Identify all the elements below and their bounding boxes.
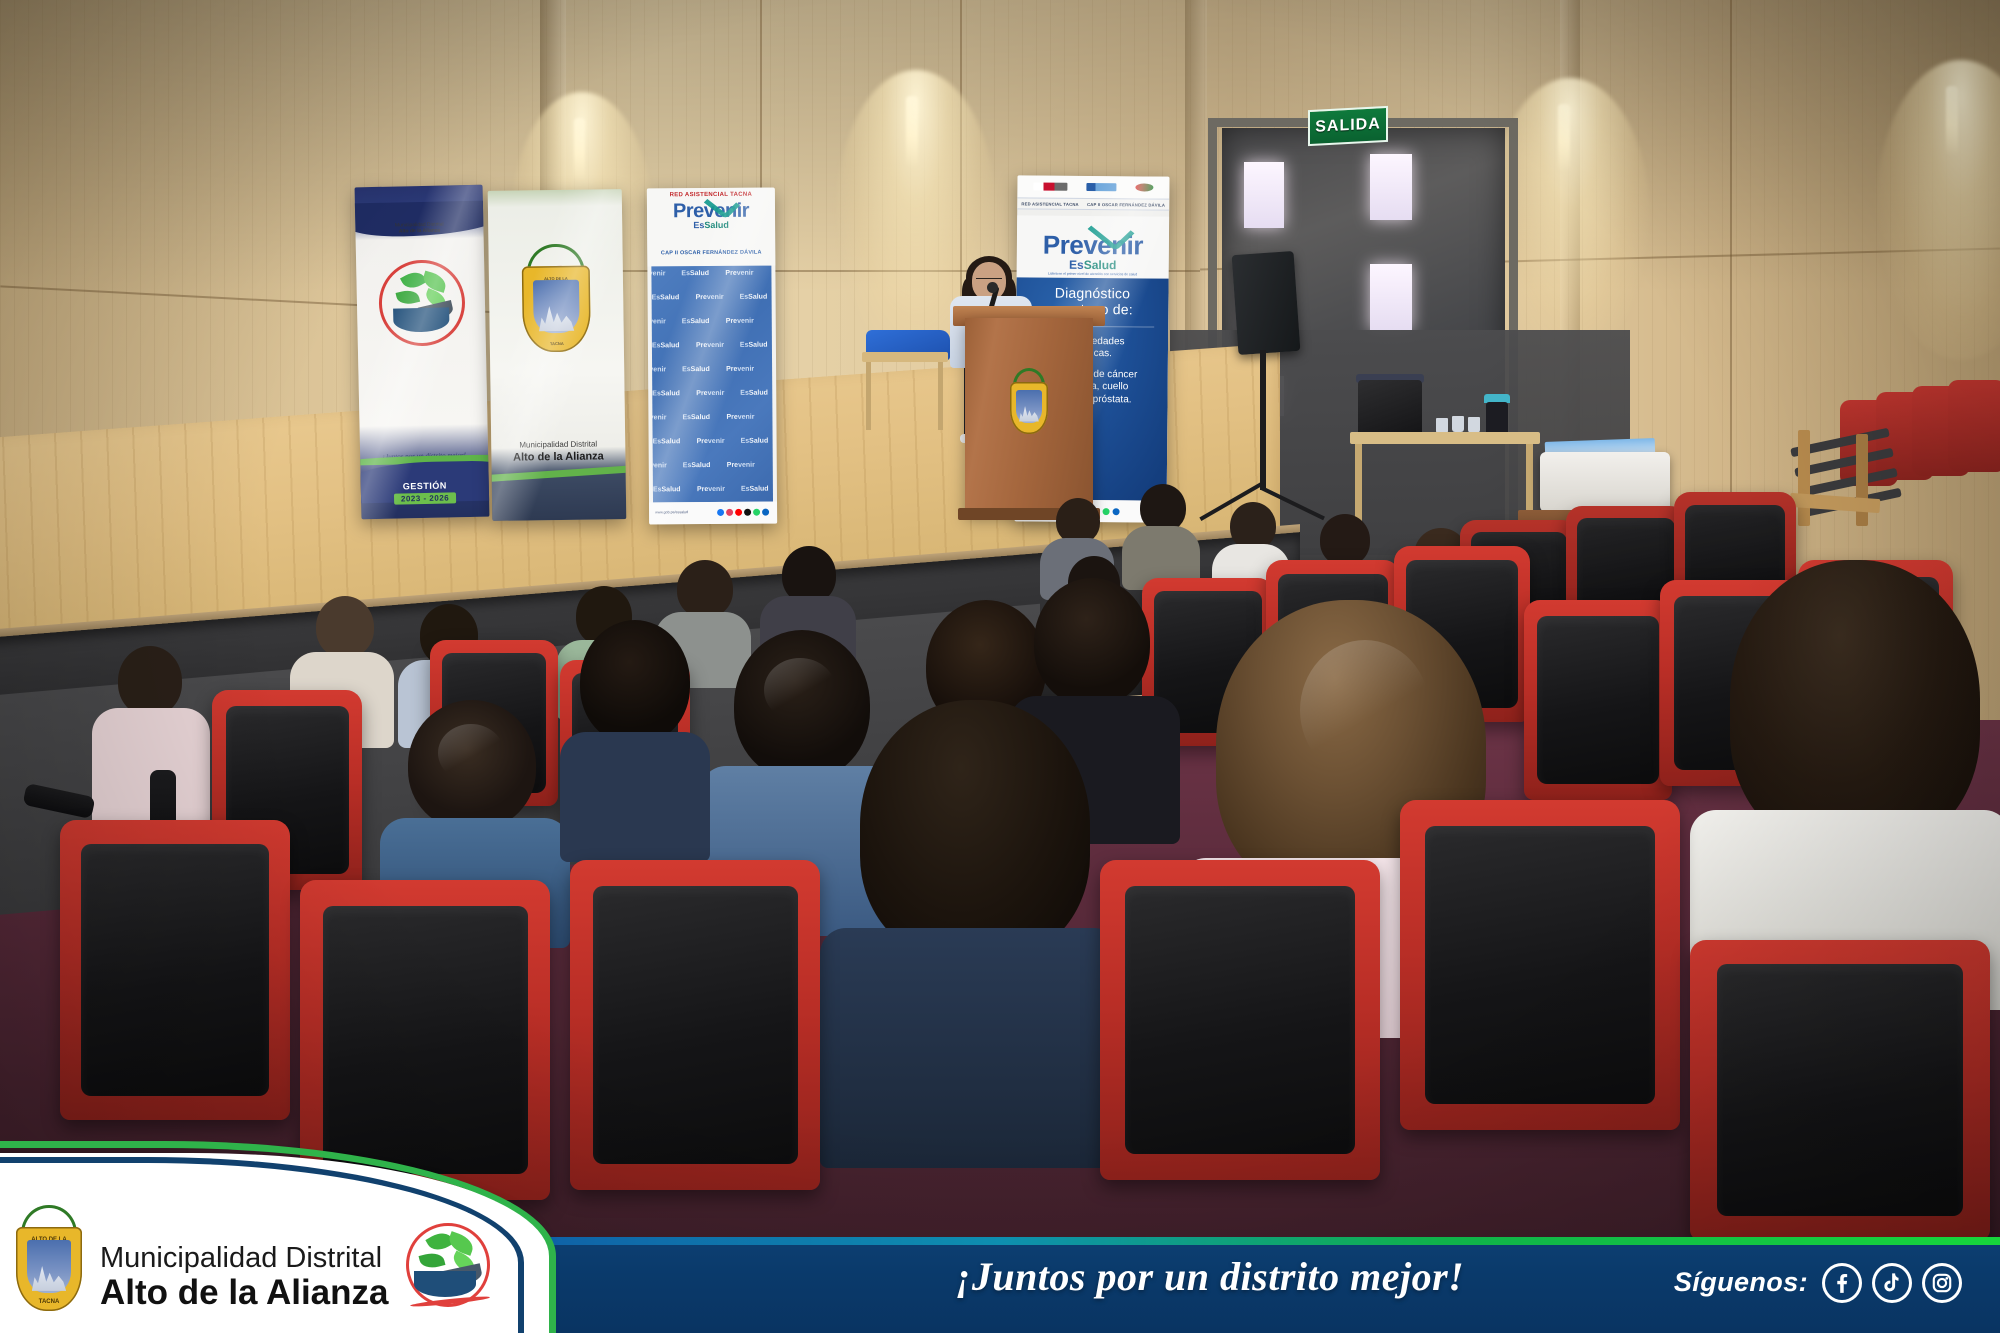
- exit-sign: SALIDA: [1308, 106, 1388, 146]
- banner-pattern-tile: EsSalud: [740, 342, 768, 349]
- cooler-bag: [1358, 380, 1422, 436]
- gestion-label: GESTIÓN: [361, 480, 489, 493]
- banner-pattern-tile: EsSalud: [681, 270, 709, 277]
- footer-slogan: ¡Juntos por un distrito mejor!: [860, 1253, 1560, 1300]
- theater-seat[interactable]: [570, 860, 820, 1190]
- banner-pattern-tile: EsSalud: [740, 390, 768, 397]
- linkedin-icon: [762, 509, 769, 516]
- seat-cushion: [1125, 886, 1355, 1155]
- table-top: [1350, 432, 1540, 444]
- footer-org-line2: Alto de la Alianza: [100, 1273, 388, 1313]
- person-torso: [820, 928, 1120, 1168]
- banner-pattern-tile: EsSalud: [652, 294, 680, 301]
- theater-seat[interactable]: [1524, 600, 1672, 800]
- leaf-hand-logo: [378, 259, 466, 347]
- banner-gestion-municipal: Municipalidad Distrital Alto de la Alian…: [355, 185, 490, 520]
- banner-pattern-tile: EsSalud: [683, 462, 711, 469]
- podium-crest: [1010, 382, 1048, 434]
- banner-pattern-body: PrevenirEsSaludPrevenirEsSaludPrevenirEs…: [651, 266, 773, 503]
- tiktok-icon: [744, 509, 751, 516]
- wall-seam: [1730, 0, 1732, 520]
- theater-seat[interactable]: [1690, 940, 1990, 1240]
- microphone-head: [987, 282, 998, 293]
- seat-cushion: [81, 844, 270, 1096]
- banner-line1: Municipalidad Distrital: [491, 439, 625, 450]
- crest-bottom-text: TACNA: [16, 1299, 82, 1305]
- banner-green-stripe: [488, 465, 627, 483]
- minsa-logo: [1033, 182, 1067, 190]
- theater-seat[interactable]: [1100, 860, 1380, 1180]
- banner-pattern-tile: EsSalud: [740, 294, 768, 301]
- banner-line2: Alto de la Alianza: [491, 450, 625, 464]
- person-head: [1320, 514, 1370, 566]
- banner-pattern-tile: EsSalud: [741, 486, 769, 493]
- person-head: [580, 620, 690, 744]
- footer-bar: ¡Juntos por un distrito mejor! Síguenos:…: [0, 1237, 2000, 1333]
- footer-follow-label: Síguenos:: [1674, 1267, 1808, 1298]
- banner-org-small: Municipalidad Distrital Alto de la Alian…: [355, 221, 483, 236]
- hair-highlight: [438, 724, 504, 782]
- seat-cushion: [1717, 964, 1963, 1216]
- banner-pattern-tile: EsSalud: [653, 486, 681, 493]
- person-head: [316, 596, 374, 658]
- banner-pattern-tile: Prevenir: [651, 462, 666, 469]
- banner-gestion-block: GESTIÓN 2023 - 2026: [361, 480, 489, 506]
- banner-municipalidad: ALTO DE LA TACNA Municipalidad Distrital…: [488, 189, 627, 521]
- essalud-logo: [1086, 183, 1116, 191]
- chair-back-post: [1798, 430, 1810, 526]
- banner-pattern-tile: Prevenir: [697, 486, 725, 493]
- audience-person-foreground: [820, 700, 1120, 1150]
- banner-pattern-tile: Prevenir: [696, 342, 724, 349]
- footer-crest: ALTO DE LA TACNA: [16, 1227, 82, 1311]
- banner-social-row: [717, 509, 769, 516]
- banner-cap-label: CAP II OSCAR FERNÁNDEZ DÁVILA: [647, 250, 775, 257]
- tiktok-icon[interactable]: [1872, 1263, 1912, 1303]
- red-asistencial-logo: [1136, 183, 1154, 191]
- stacked-chair: [1948, 380, 2000, 472]
- banner-pattern-tile: EsSalud: [682, 366, 710, 373]
- pa-speaker: [1232, 251, 1301, 355]
- youtube-icon: [735, 509, 742, 516]
- instagram-icon: [726, 509, 733, 516]
- banner-pattern-tile: Prevenir: [727, 462, 755, 469]
- person-torso: [560, 732, 710, 862]
- banner-pattern-tile: Prevenir: [726, 366, 754, 373]
- table-leg: [866, 362, 871, 430]
- banner-pattern-tile: Prevenir: [697, 438, 725, 445]
- person-head: [1140, 484, 1186, 532]
- banner-pattern-tile: Prevenir: [696, 390, 724, 397]
- person-head: [1034, 578, 1150, 706]
- banner-pattern-tile: Prevenir: [651, 270, 665, 277]
- logo-red-ring: [378, 259, 466, 347]
- municipal-crest: ALTO DE LA TACNA: [522, 266, 591, 353]
- theater-seat[interactable]: [1400, 800, 1680, 1130]
- banner-pattern-tile: Prevenir: [651, 366, 666, 373]
- banner-org-line2: Alto de la Alianza: [399, 228, 440, 235]
- seat-cushion: [1425, 826, 1655, 1103]
- banner-pattern-tile: Prevenir: [725, 270, 753, 277]
- instagram-icon[interactable]: [1922, 1263, 1962, 1303]
- seat-cushion: [323, 906, 528, 1175]
- facebook-icon: [717, 509, 724, 516]
- projector: [1540, 452, 1670, 512]
- banner-footer: www.gob.pe/essalud: [649, 502, 777, 525]
- whatsapp-icon: [753, 509, 760, 516]
- wooden-chair: [1790, 430, 1880, 540]
- person-head: [118, 646, 182, 716]
- audience-person-front: [560, 620, 710, 850]
- banner-pattern-tile: Prevenir: [726, 414, 754, 421]
- banner-pattern-tile: EsSalud: [741, 438, 769, 445]
- banner-header: RED ASISTENCIAL TACNA Prevenir EsSalud C…: [647, 188, 776, 267]
- person-head: [860, 700, 1090, 960]
- person-head: [677, 560, 733, 618]
- strip-left-text: RED ASISTENCIAL TACNA: [1021, 201, 1078, 207]
- banner-prevenir-pattern: RED ASISTENCIAL TACNA Prevenir EsSalud C…: [647, 188, 777, 525]
- seat-cushion: [593, 886, 798, 1163]
- footer-org-line1: Municipalidad Distrital: [100, 1242, 382, 1275]
- facebook-icon[interactable]: [1822, 1263, 1862, 1303]
- thermos: [1486, 402, 1508, 436]
- person-head: [1730, 560, 1980, 850]
- person-head: [1230, 502, 1276, 550]
- prevenir-wordmark: Prevenir EsSalud: [647, 200, 775, 231]
- banner-pattern-tile: Prevenir: [651, 318, 665, 325]
- cup: [1452, 416, 1464, 432]
- banner-logo-row: [1017, 175, 1169, 198]
- banner-pattern-tile: Prevenir: [726, 318, 754, 325]
- speaker-stand-pole: [1260, 350, 1266, 490]
- banner-pattern-tile: EsSalud: [653, 438, 681, 445]
- prevenir-sub: EsSalud: [647, 220, 775, 231]
- audience-person-foreground: [1690, 560, 2000, 990]
- cup: [1468, 417, 1480, 433]
- logo-hand: [414, 1271, 476, 1297]
- photo-scene: SALIDA Municipalidad Distrital Alto de l…: [0, 0, 2000, 1333]
- banner-pattern-tile: Prevenir: [696, 294, 724, 301]
- banner-strip: RED ASISTENCIAL TACNA CAP II OSCAR FERNÁ…: [1017, 197, 1169, 210]
- theater-seat[interactable]: [60, 820, 290, 1120]
- gestion-years: 2023 - 2026: [394, 492, 456, 504]
- banner-pattern-tile: EsSalud: [652, 342, 680, 349]
- seat-cushion: [1537, 616, 1658, 784]
- banner-pattern-tile: EsSalud: [682, 414, 710, 421]
- strip-right-text: CAP II OSCAR FERNÁNDEZ DÁVILA: [1087, 201, 1165, 207]
- banner-pattern-tile: Prevenir: [651, 414, 666, 421]
- banner-pattern-tile: EsSalud: [682, 318, 710, 325]
- banner-pattern-tile: EsSalud: [652, 390, 680, 397]
- crest-bottom-text: TACNA: [523, 341, 591, 347]
- footer-leaf-hand-logo: [404, 1223, 496, 1311]
- banner-url: www.gob.pe/essalud: [655, 510, 688, 514]
- hair-highlight: [1300, 640, 1430, 780]
